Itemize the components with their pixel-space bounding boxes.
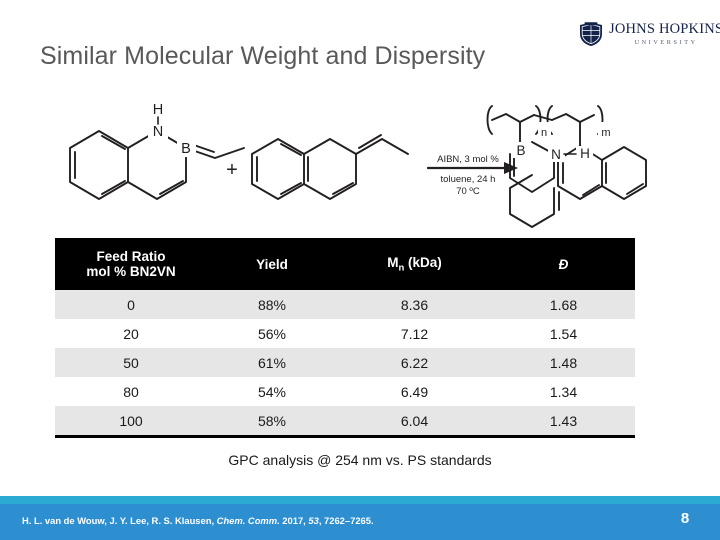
cell-feed-ratio: 20 (55, 319, 207, 348)
cell-dispersity: 1.68 (492, 290, 635, 319)
column-header-dispersity: Ð (492, 238, 635, 290)
table-row: 50 61% 6.22 1.48 (55, 348, 635, 377)
column-header-mn: Mn (kDa) (337, 238, 492, 290)
feed-ratio-line-2: mol % BN2VN (55, 264, 207, 279)
dispersity-symbol: Ð (559, 257, 569, 272)
column-header-feed-ratio: Feed Ratio mol % BN2VN (55, 238, 207, 290)
reaction-scheme: N B H + (40, 96, 680, 231)
feed-ratio-line-1: Feed Ratio (55, 249, 207, 264)
cell-yield: 61% (207, 348, 337, 377)
scheme-conditions-below-1: toluene, 24 h (441, 174, 496, 185)
cell-mn: 7.12 (337, 319, 492, 348)
jhu-logo: JOHNS HOPKINS UNIVERSITY (578, 18, 704, 50)
scheme-label-boron: B (181, 141, 191, 157)
table-row: 80 54% 6.49 1.34 (55, 377, 635, 406)
scheme-label-nitrogen: N (153, 124, 163, 140)
cell-yield: 88% (207, 290, 337, 319)
scheme-conditions-below-2: 70 ºC (456, 186, 480, 197)
product-label-hydrogen: H (580, 146, 590, 161)
cell-dispersity: 1.34 (492, 377, 635, 406)
cell-dispersity: 1.54 (492, 319, 635, 348)
cell-dispersity: 1.48 (492, 348, 635, 377)
table-row: 0 88% 8.36 1.68 (55, 290, 635, 319)
table-header-row: Feed Ratio mol % BN2VN Yield Mn (kDa) Ð (55, 238, 635, 290)
table-caption: GPC analysis @ 254 nm vs. PS standards (0, 452, 720, 468)
cell-yield: 56% (207, 319, 337, 348)
cell-yield: 54% (207, 377, 337, 406)
mn-symbol: M (387, 255, 398, 270)
footer-accent-strip (0, 496, 720, 504)
product-subscript-m: m (601, 127, 610, 139)
cell-mn: 8.36 (337, 290, 492, 319)
jhu-shield-crest-icon (578, 21, 604, 47)
scheme-label-hydrogen: H (153, 102, 163, 118)
citation-journal: Chem. Comm. (217, 515, 280, 526)
scheme-plus-sign: + (226, 159, 238, 181)
product-label-boron: B (516, 143, 525, 158)
jhu-wordmark-main: JOHNS HOPKINS (609, 22, 720, 37)
citation-volume: 53 (308, 515, 318, 526)
cell-mn: 6.22 (337, 348, 492, 377)
reactant-bn2vn-structure (70, 131, 244, 199)
cell-mn: 6.49 (337, 377, 492, 406)
slide-number: 8 (670, 510, 700, 527)
table-row: 20 56% 7.12 1.54 (55, 319, 635, 348)
page-title: Similar Molecular Weight and Dispersity (40, 42, 485, 71)
jhu-wordmark: JOHNS HOPKINS UNIVERSITY (609, 22, 720, 46)
product-subscript-n: n (541, 127, 547, 139)
product-label-nitrogen: N (551, 147, 561, 162)
citation-year: 2017 (280, 515, 303, 526)
reactant-vinylnaphthalene-structure (252, 135, 408, 199)
citation: H. L. van de Wouw, J. Y. Lee, R. S. Klau… (22, 515, 374, 526)
column-header-yield: Yield (207, 238, 337, 290)
cell-feed-ratio: 100 (55, 406, 207, 437)
table-body: 0 88% 8.36 1.68 20 56% 7.12 1.54 50 61% … (55, 290, 635, 437)
cell-mn: 6.04 (337, 406, 492, 437)
cell-feed-ratio: 80 (55, 377, 207, 406)
citation-authors: H. L. van de Wouw, J. Y. Lee, R. S. Klau… (22, 515, 217, 526)
table-row: 100 58% 6.04 1.43 (55, 406, 635, 437)
cell-dispersity: 1.43 (492, 406, 635, 437)
cell-feed-ratio: 0 (55, 290, 207, 319)
results-table: Feed Ratio mol % BN2VN Yield Mn (kDa) Ð … (55, 238, 635, 438)
scheme-conditions-above: AIBN, 3 mol % (437, 154, 499, 165)
citation-pages: , 7262–7265. (319, 515, 374, 526)
mn-unit: (kDa) (404, 255, 442, 270)
cell-yield: 58% (207, 406, 337, 437)
jhu-wordmark-sub: UNIVERSITY (609, 40, 720, 46)
cell-feed-ratio: 50 (55, 348, 207, 377)
